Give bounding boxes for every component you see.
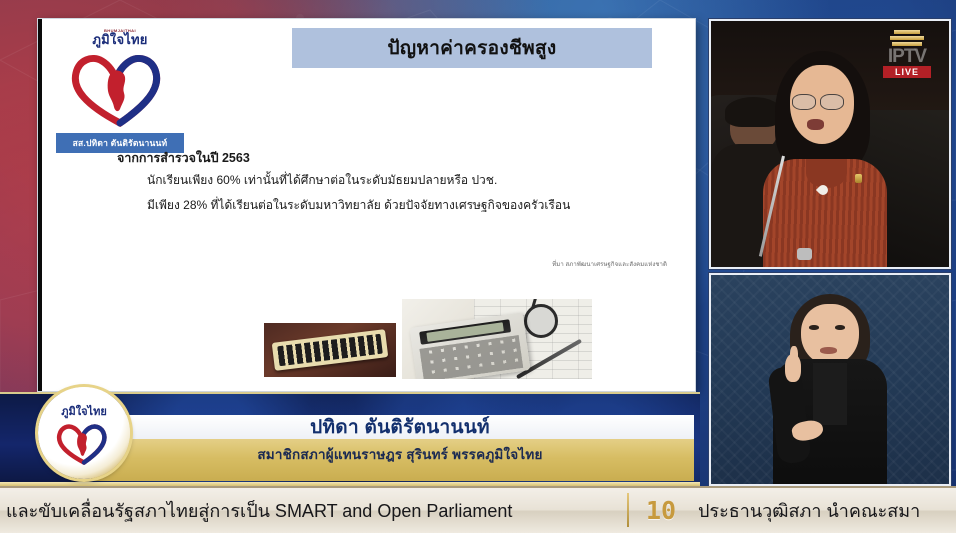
lower-third-banner: ปทิดา ตันติรัตนานนท์ สมาชิกสภาผู้แทนราษฎ…: [0, 392, 700, 486]
ticker-number: 10: [628, 496, 694, 525]
party-badge-logo: ภูมิใจไทย: [38, 387, 130, 479]
calculator-stethoscope-photo: [402, 299, 592, 379]
speaker-name: ปทิดา ตันติรัตนานนท์: [120, 414, 680, 440]
channel-watermark: IPTV LIVE: [874, 28, 940, 78]
speaker-role: สมาชิกสภาผู้แทนราษฎร สุรินทร์ พรรคภูมิใจ…: [120, 442, 680, 466]
party-logo: BHUMJAITHAI ภูมิใจไทย สส.ปทิดา ตันติรัตน…: [56, 29, 184, 153]
slide-title-band: ปัญหาค่าครองชีพสูง: [292, 28, 652, 68]
presentation-slide: BHUMJAITHAI ภูมิใจไทย สส.ปทิดา ตันติรัตน…: [38, 19, 695, 391]
interpreter-camera-feed: [711, 275, 949, 484]
live-badge: LIVE: [883, 66, 931, 78]
slide-bullet-list: นักเรียนเพียง 60% เท่านั้นที่ได้ศึกษาต่อ…: [147, 174, 667, 224]
ticker-headline-right: ประธานวุฒิสภา นำคณะสมา: [694, 496, 956, 525]
slide-title-text: ปัญหาค่าครองชีพสูง: [388, 33, 557, 63]
iptv-bars-icon: [890, 30, 924, 46]
broadcast-screen: BHUMJAITHAI ภูมิใจไทย สส.ปทิดา ตันติรัตน…: [0, 0, 956, 533]
party-logo-thai: ภูมิใจไทย: [92, 32, 147, 47]
slide-bullet: มีเพียง 28% ที่ได้เรียนต่อในระดับมหาวิทย…: [147, 199, 667, 211]
party-logo-wordmark: BHUMJAITHAI ภูมิใจไทย: [56, 29, 184, 47]
party-badge-wordmark: ภูมิใจไทย: [61, 402, 107, 420]
slide-bullet: นักเรียนเพียง 60% เท่านั้นที่ได้ศึกษาต่อ…: [147, 174, 667, 186]
heart-thailand-map-icon: [55, 421, 113, 465]
slide-heading: จากการสำรวจในปี 2563: [117, 148, 250, 168]
news-ticker: และขับเคลื่อนรัฐสภาไทยสู่การเป็น SMART a…: [0, 486, 956, 533]
ticker-headline-left: และขับเคลื่อนรัฐสภาไทยสู่การเป็น SMART a…: [0, 496, 628, 525]
abacus-photo: [264, 323, 396, 377]
slide-source-citation: ที่มา สภาพัฒนาเศรษฐกิจและสังคมแห่งชาติ: [552, 259, 667, 269]
ticker-divider: [627, 493, 629, 527]
speaker-camera[interactable]: IPTV LIVE: [709, 19, 951, 269]
sign-language-interpreter[interactable]: [709, 273, 951, 486]
channel-name: IPTV: [874, 48, 940, 65]
heart-thailand-map-icon: [68, 49, 172, 127]
